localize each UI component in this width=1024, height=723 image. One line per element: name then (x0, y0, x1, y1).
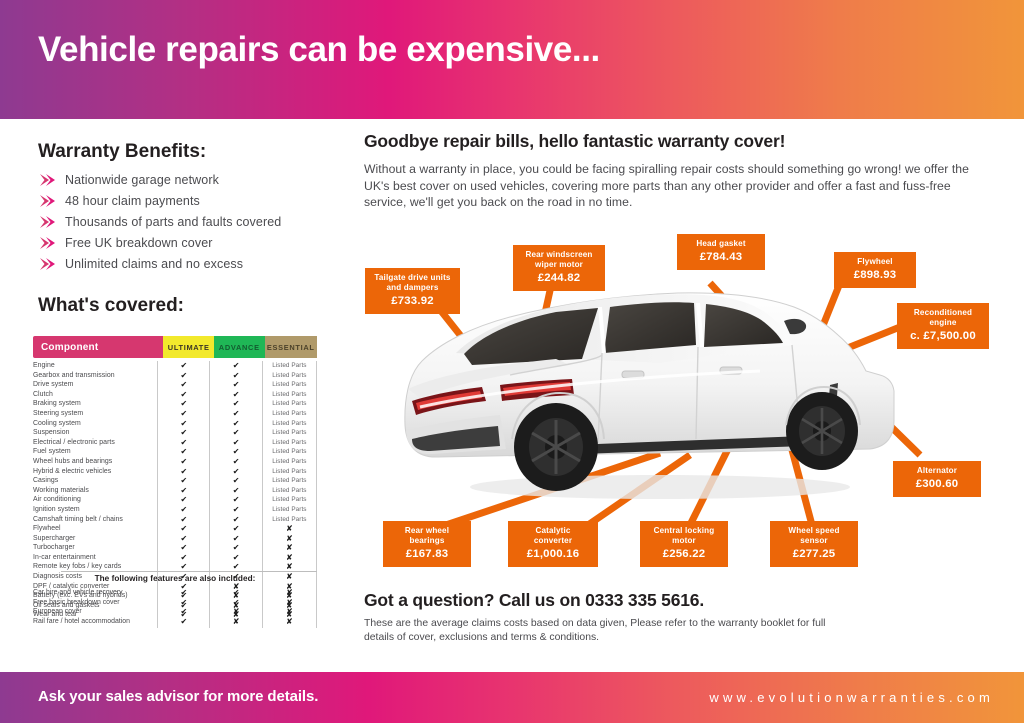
table-cell-mark: Listed Parts (263, 419, 316, 429)
table-cell-mark: ✔ (158, 457, 209, 467)
also-cell-mark: ✘ (210, 617, 261, 627)
table-cell-mark: ✔ (210, 409, 261, 419)
column-header-advance: ADVANCE (214, 336, 265, 358)
table-cell-mark: ✔ (210, 371, 261, 381)
table-cell-mark: ✔ (158, 515, 209, 525)
table-cell-mark: Listed Parts (263, 505, 316, 515)
chevron-arrow-icon (38, 215, 60, 229)
table-row-label: Braking system (33, 399, 157, 409)
table-cell-mark: ✔ (210, 553, 261, 563)
table-cell-mark: ✔ (158, 467, 209, 477)
callout-reconditioned-engine: Reconditioned engine c. £7,500.00 (897, 303, 989, 349)
chevron-arrow-icon (38, 236, 60, 250)
chevron-arrow-icon (38, 173, 60, 187)
brochure-page: Vehicle repairs can be expensive... Warr… (0, 0, 1024, 723)
also-cell-mark: ✘ (263, 588, 316, 598)
table-cell-mark: ✔ (158, 476, 209, 486)
table-cell-mark: Listed Parts (263, 476, 316, 486)
callout-price: £167.83 (391, 547, 463, 561)
table-cell-mark: ✔ (158, 390, 209, 400)
table-cell-mark: ✔ (158, 553, 209, 563)
table-cell-mark: ✔ (158, 495, 209, 505)
table-cell-mark: ✘ (263, 534, 316, 544)
list-item: Free UK breakdown cover (38, 232, 338, 253)
table-cell-mark: Listed Parts (263, 409, 316, 419)
table-cell-mark: ✔ (210, 515, 261, 525)
table-cell-mark: ✔ (210, 361, 261, 371)
benefit-label: Free UK breakdown cover (60, 236, 213, 250)
table-cell-mark: Listed Parts (263, 399, 316, 409)
table-cell-mark: ✔ (210, 505, 261, 515)
footer-website-url[interactable]: www.evolutionwarranties.com (709, 690, 994, 705)
table-cell-mark: ✔ (158, 524, 209, 534)
benefit-label: Thousands of parts and faults covered (60, 215, 281, 229)
table-cell-mark: Listed Parts (263, 390, 316, 400)
also-column-essential: ✘✘✘✘ (263, 588, 317, 628)
table-cell-mark: ✔ (158, 543, 209, 553)
table-row-label: Steering system (33, 409, 157, 419)
also-cell-mark: ✔ (158, 617, 209, 627)
table-cell-mark: Listed Parts (263, 371, 316, 381)
also-cell-mark: ✔ (210, 588, 261, 598)
callout-rear-windscreen-wiper-motor: Rear windscreen wiper motor £244.82 (513, 245, 605, 291)
table-cell-mark: ✘ (263, 553, 316, 563)
callout-label: Tailgate drive units and dampers (373, 273, 452, 293)
chevron-arrow-icon (38, 257, 60, 271)
table-cell-mark: ✔ (158, 361, 209, 371)
callout-price: £256.22 (648, 547, 720, 561)
table-cell-mark: ✔ (158, 419, 209, 429)
footer-cta-text: Ask your sales advisor for more details. (38, 688, 318, 705)
benefit-label: Nationwide garage network (60, 173, 219, 187)
table-row-label: Air conditioning (33, 495, 157, 505)
table-cell-mark: Listed Parts (263, 380, 316, 390)
callout-label: Wheel speed sensor (778, 526, 850, 546)
table-cell-mark: Listed Parts (263, 486, 316, 496)
also-row-label: Rail fare / hotel accommodation (33, 617, 157, 627)
chevron-arrow-icon (38, 194, 60, 208)
callout-flywheel: Flywheel £898.93 (834, 252, 916, 288)
table-row-label: Wheel hubs and bearings (33, 457, 157, 467)
benefit-label: Unlimited claims and no excess (60, 257, 243, 271)
callout-label: Reconditioned engine (905, 308, 981, 328)
table-cell-mark: ✔ (158, 380, 209, 390)
whats-covered-heading: What's covered: (38, 295, 184, 317)
also-cell-mark: ✔ (158, 598, 209, 608)
also-cell-mark: ✔ (210, 598, 261, 608)
list-item: Thousands of parts and faults covered (38, 211, 338, 232)
callout-rear-wheel-bearings: Rear wheel bearings £167.83 (383, 521, 471, 567)
table-cell-mark: ✔ (210, 390, 261, 400)
column-header-ultimate: ULTIMATE (163, 336, 214, 358)
table-cell-mark: ✔ (210, 476, 261, 486)
table-cell-mark: ✔ (158, 505, 209, 515)
table-cell-mark: ✔ (210, 419, 261, 429)
table-cell-mark: ✔ (210, 428, 261, 438)
table-row-label: Cooling system (33, 419, 157, 429)
table-cell-mark: ✔ (210, 380, 261, 390)
also-cell-mark: ✘ (263, 598, 316, 608)
also-row-label: Free basic breakdown cover (33, 598, 157, 608)
table-cell-mark: Listed Parts (263, 495, 316, 505)
callout-price: £733.92 (373, 294, 452, 308)
callout-label: Rear wheel bearings (391, 526, 463, 546)
table-cell-mark: Listed Parts (263, 515, 316, 525)
section-body-text: Without a warranty in place, you could b… (364, 161, 996, 211)
callout-label: Alternator (901, 466, 973, 476)
table-row-label: Suspension (33, 428, 157, 438)
table-cell-mark: ✔ (158, 428, 209, 438)
also-cell-mark: ✘ (210, 607, 261, 617)
table-cell-mark: ✔ (210, 524, 261, 534)
page-title: Vehicle repairs can be expensive... (38, 30, 600, 70)
table-cell-mark: ✔ (158, 371, 209, 381)
list-item: Nationwide garage network (38, 169, 338, 190)
benefits-list: Nationwide garage network 48 hour claim … (38, 169, 338, 274)
table-cell-mark: ✔ (210, 457, 261, 467)
table-cell-mark: ✔ (210, 534, 261, 544)
table-divider (61, 571, 317, 572)
callout-label: Flywheel (842, 257, 908, 267)
rear-wheel (514, 403, 598, 491)
also-cell-mark: ✔ (158, 588, 209, 598)
callout-label: Central locking motor (648, 526, 720, 546)
table-cell-mark: ✔ (158, 534, 209, 544)
table-cell-mark: ✔ (210, 447, 261, 457)
car-shape (405, 293, 894, 499)
callout-price: £244.82 (521, 271, 597, 285)
table-row-label: Drive system (33, 380, 157, 390)
table-cell-mark: Listed Parts (263, 438, 316, 448)
table-row-label: Clutch (33, 390, 157, 400)
table-cell-mark: ✔ (210, 486, 261, 496)
list-item: 48 hour claim payments (38, 190, 338, 211)
table-row-label: Electrical / electronic parts (33, 438, 157, 448)
table-row-label: Ignition system (33, 505, 157, 515)
table-row-label: Camshaft timing belt / chains (33, 515, 157, 525)
table-cell-mark: ✔ (210, 495, 261, 505)
callout-head-gasket: Head gasket £784.43 (677, 234, 765, 270)
table-row-label: Engine (33, 361, 157, 371)
callout-price: £784.43 (685, 250, 757, 264)
table-row-label: Casings (33, 476, 157, 486)
front-wheel (786, 392, 858, 470)
table-cell-mark: ✔ (158, 486, 209, 496)
table-cell-mark: ✔ (210, 438, 261, 448)
table-cell-mark: ✔ (210, 543, 261, 553)
table-row-label: Fuel system (33, 447, 157, 457)
contact-disclaimer: These are the average claims costs based… (364, 617, 834, 644)
table-cell-mark: ✘ (263, 543, 316, 553)
callout-price: c. £7,500.00 (905, 329, 981, 343)
also-column-ultimate: ✔✔✔✔ (158, 588, 210, 628)
table-cell-mark: Listed Parts (263, 361, 316, 371)
table-row-label: In-car entertainment (33, 553, 157, 563)
table-cell-mark: Listed Parts (263, 467, 316, 477)
callout-label: Catalytic converter (516, 526, 590, 546)
table-row-label: Working materials (33, 486, 157, 496)
list-item: Unlimited claims and no excess (38, 253, 338, 274)
callout-catalytic-converter: Catalytic converter £1,000.16 (508, 521, 598, 567)
table-row-label: Gearbox and transmission (33, 371, 157, 381)
callout-price: £277.25 (778, 547, 850, 561)
table-row-label: Flywheel (33, 524, 157, 534)
also-column-advance: ✔✔✘✘ (210, 588, 262, 628)
callout-price: £1,000.16 (516, 547, 590, 561)
callout-label: Rear windscreen wiper motor (521, 250, 597, 270)
table-cell-mark: ✘ (263, 524, 316, 534)
callout-price: £898.93 (842, 268, 908, 282)
benefit-label: 48 hour claim payments (60, 194, 200, 208)
also-included-heading: The following features are also included… (33, 574, 317, 583)
table-cell-mark: ✔ (210, 467, 261, 477)
table-row-label: Supercharger (33, 534, 157, 544)
also-cell-mark: ✘ (263, 617, 316, 627)
column-header-component: Component (33, 336, 163, 358)
table-row-label: Turbocharger (33, 543, 157, 553)
also-included-table: Car hire and vehicle recoveryFree basic … (33, 588, 317, 628)
contact-heading: Got a question? Call us on 0333 335 5616… (364, 590, 704, 611)
also-row-label: Car hire and vehicle recovery (33, 588, 157, 598)
also-cell-mark: ✔ (158, 607, 209, 617)
table-cell-mark: Listed Parts (263, 447, 316, 457)
callout-wheel-speed-sensor: Wheel speed sensor £277.25 (770, 521, 858, 567)
callout-central-locking-motor: Central locking motor £256.22 (640, 521, 728, 567)
callout-price: £300.60 (901, 477, 973, 491)
section-heading: Goodbye repair bills, hello fantastic wa… (364, 131, 785, 152)
callout-tailgate-drive-units: Tailgate drive units and dampers £733.92 (365, 268, 460, 314)
callout-label: Head gasket (685, 239, 757, 249)
also-column-component: Car hire and vehicle recoveryFree basic … (33, 588, 158, 628)
table-cell-mark: Listed Parts (263, 457, 316, 467)
also-row-label: European cover (33, 607, 157, 617)
column-header-essential: ESSENTIAL (265, 336, 317, 358)
table-cell-mark: ✔ (158, 438, 209, 448)
also-cell-mark: ✘ (263, 607, 316, 617)
benefits-heading: Warranty Benefits: (38, 141, 206, 163)
table-cell-mark: ✔ (158, 447, 209, 457)
table-cell-mark: ✔ (158, 409, 209, 419)
table-cell-mark: Listed Parts (263, 428, 316, 438)
table-header-row: Component ULTIMATE ADVANCE ESSENTIAL (33, 336, 317, 358)
callout-alternator: Alternator £300.60 (893, 461, 981, 497)
table-cell-mark: ✔ (158, 399, 209, 409)
table-row-label: Hybrid & electric vehicles (33, 467, 157, 477)
table-cell-mark: ✔ (210, 399, 261, 409)
